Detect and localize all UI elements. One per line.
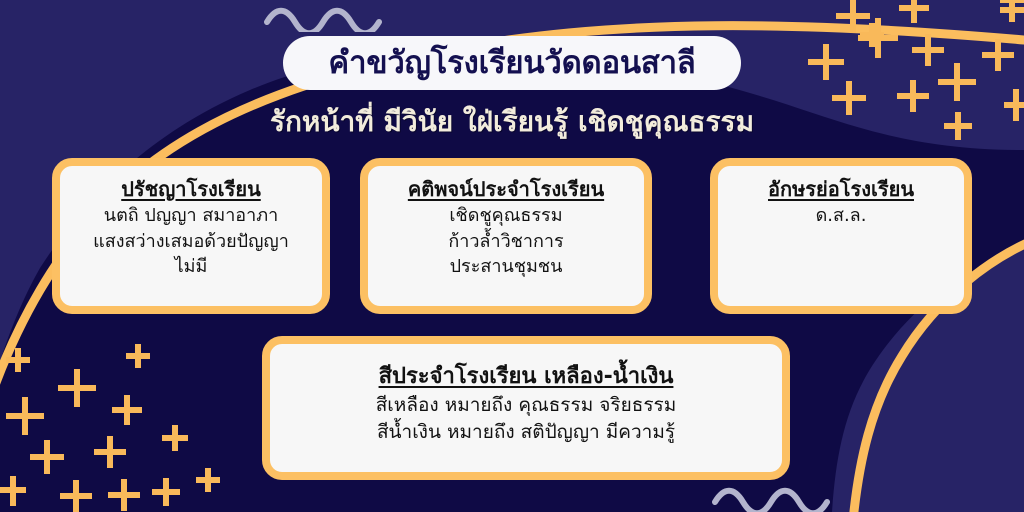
infographic-canvas: คำขวัญโรงเรียนวัดดอนสาลี รักหน้าที่ มีวิ… xyxy=(0,0,1024,512)
page-title: คำขวัญโรงเรียนวัดดอนสาลี xyxy=(328,48,695,79)
card-abbreviation-heading: อักษรย่อโรงเรียน xyxy=(768,176,914,203)
card-school-colors: สีประจำโรงเรียน เหลือง-น้ำเงิน สีเหลือง … xyxy=(262,336,790,480)
card-philosophy-line-3: ไม่มี xyxy=(175,254,208,280)
card-school-colors-heading: สีประจำโรงเรียน เหลือง-น้ำเงิน xyxy=(379,362,674,392)
card-motto: คติพจน์ประจำโรงเรียน เชิดชูคุณธรรม ก้าวล… xyxy=(360,158,652,314)
card-abbreviation: อักษรย่อโรงเรียน ด.ส.ล. xyxy=(710,158,972,314)
squiggle-top-icon xyxy=(264,6,382,32)
card-abbreviation-line-1: ด.ส.ล. xyxy=(816,203,867,229)
page-title-pill: คำขวัญโรงเรียนวัดดอนสาลี xyxy=(283,36,741,90)
card-motto-line-2: ก้าวล้ำวิชาการ xyxy=(448,229,563,255)
card-motto-line-3: ประสานชุมชน xyxy=(450,254,563,280)
card-philosophy: ปรัชญาโรงเรียน นตถิ ปญญา สมาอาภา แสงสว่า… xyxy=(52,158,330,314)
squiggle-bottom-icon xyxy=(712,486,830,512)
card-philosophy-heading: ปรัชญาโรงเรียน xyxy=(121,176,261,203)
card-motto-heading: คติพจน์ประจำโรงเรียน xyxy=(408,176,604,203)
page-subtitle: รักหน้าที่ มีวินัย ใฝ่เรียนรู้ เชิดชูคุณ… xyxy=(0,104,1024,139)
card-philosophy-line-1: นตถิ ปญญา สมาอาภา xyxy=(104,203,278,229)
card-school-colors-line-2: สีน้ำเงิน หมายถึง สติปัญญา มีความรู้ xyxy=(377,419,675,446)
card-motto-line-1: เชิดชูคุณธรรม xyxy=(449,203,562,229)
card-philosophy-line-2: แสงสว่างเสมอด้วยปัญญา xyxy=(93,229,289,255)
card-school-colors-line-1: สีเหลือง หมายถึง คุณธรรม จริยธรรม xyxy=(376,392,677,419)
